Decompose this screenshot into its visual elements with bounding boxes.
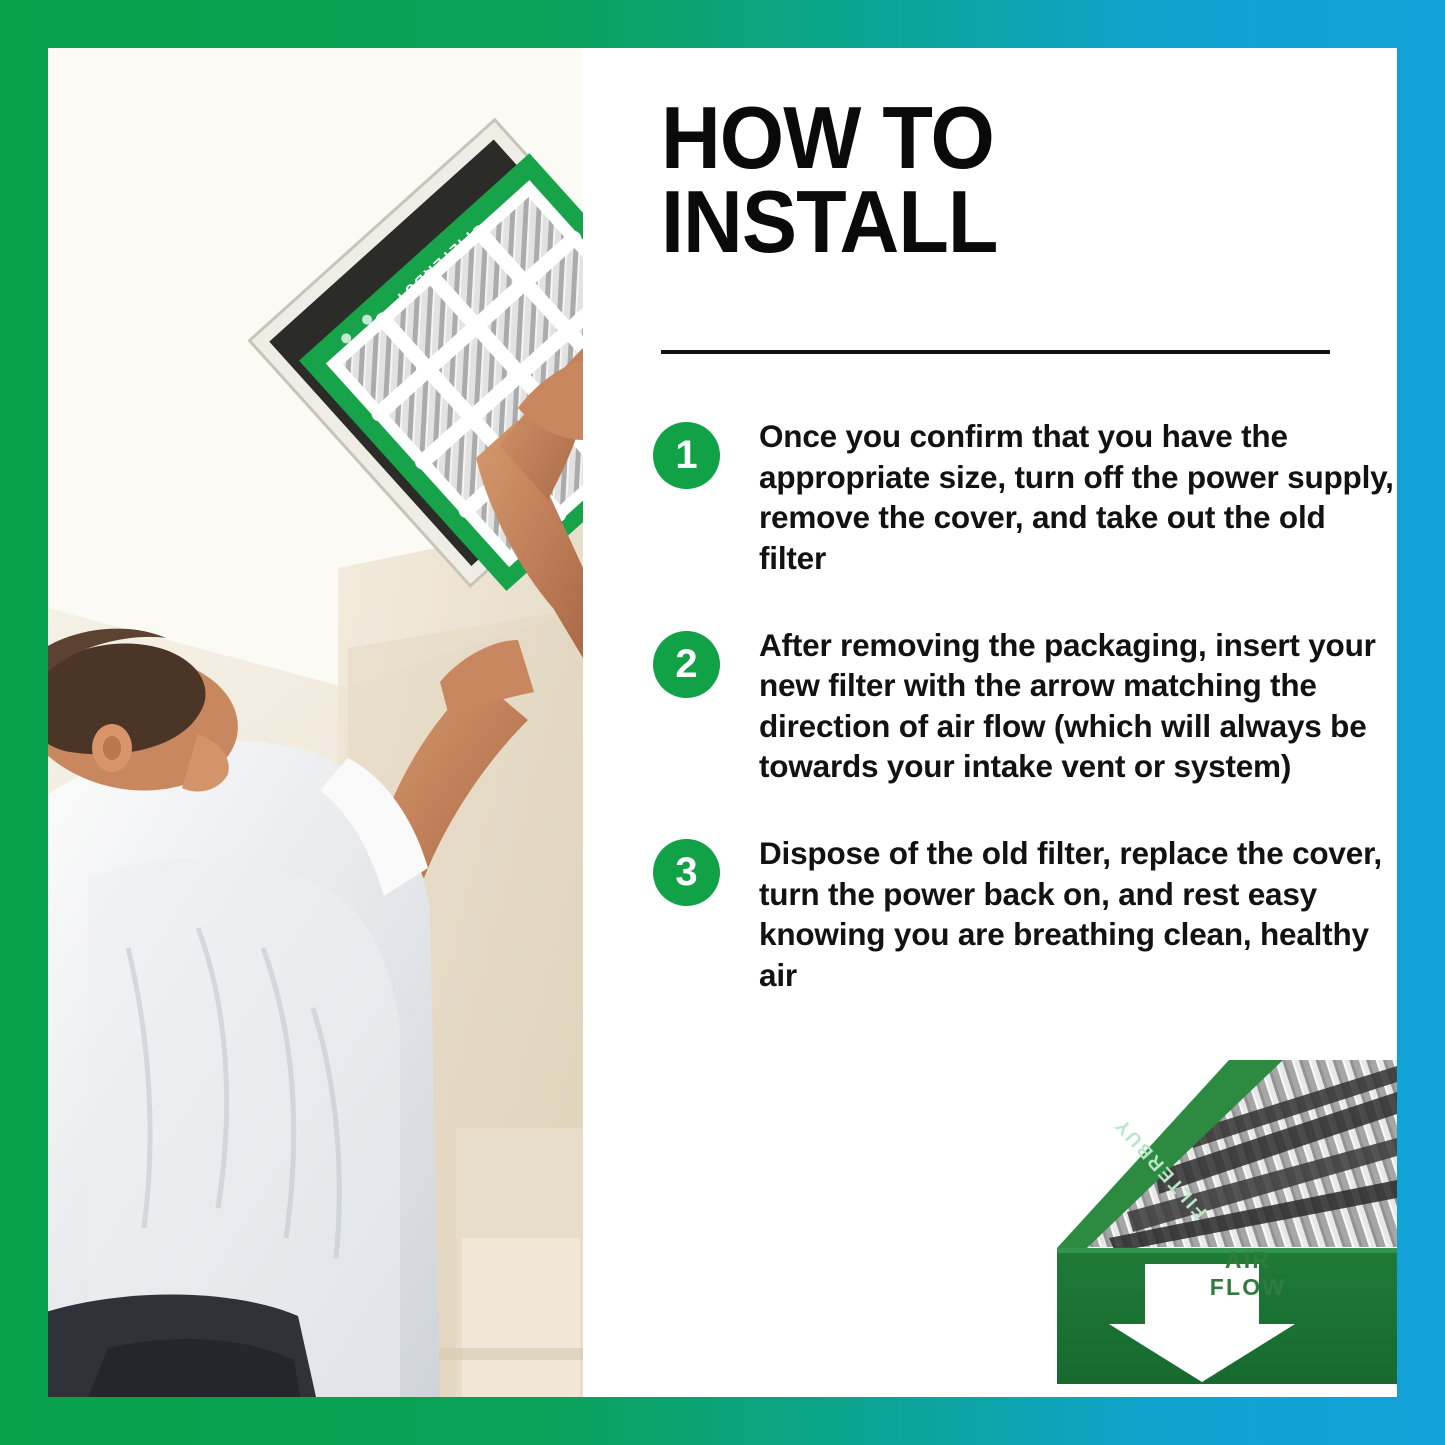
step-number-badge: 2	[653, 631, 720, 698]
title-line-2: INSTALL	[661, 180, 1319, 264]
installation-photo: FILTERBUY	[48, 48, 583, 1397]
step-number-badge: 1	[653, 422, 720, 489]
step-description: Once you confirm that you have the appro…	[759, 416, 1397, 579]
title-divider	[661, 350, 1330, 354]
air-flow-label: AIR FLOW	[1200, 1247, 1296, 1301]
steps-list: 1 Once you confirm that you have the app…	[653, 416, 1397, 1042]
step-number-badge: 3	[653, 839, 720, 906]
page-title: HOW TO INSTALL	[661, 96, 1319, 263]
photo-illustration: FILTERBUY	[48, 48, 583, 1397]
list-item: 2 After removing the packaging, insert y…	[653, 625, 1397, 788]
instructions-panel: HOW TO INSTALL 1 Once you confirm that y…	[583, 48, 1397, 1397]
air-flow-line-1: AIR	[1200, 1247, 1296, 1274]
list-item: 3 Dispose of the old filter, replace the…	[653, 833, 1397, 996]
step-description: After removing the packaging, insert you…	[759, 625, 1397, 788]
infographic-card: FILTERBUY	[48, 48, 1397, 1397]
list-item: 1 Once you confirm that you have the app…	[653, 416, 1397, 579]
air-flow-line-2: FLOW	[1200, 1274, 1296, 1301]
step-description: Dispose of the old filter, replace the c…	[759, 833, 1397, 996]
